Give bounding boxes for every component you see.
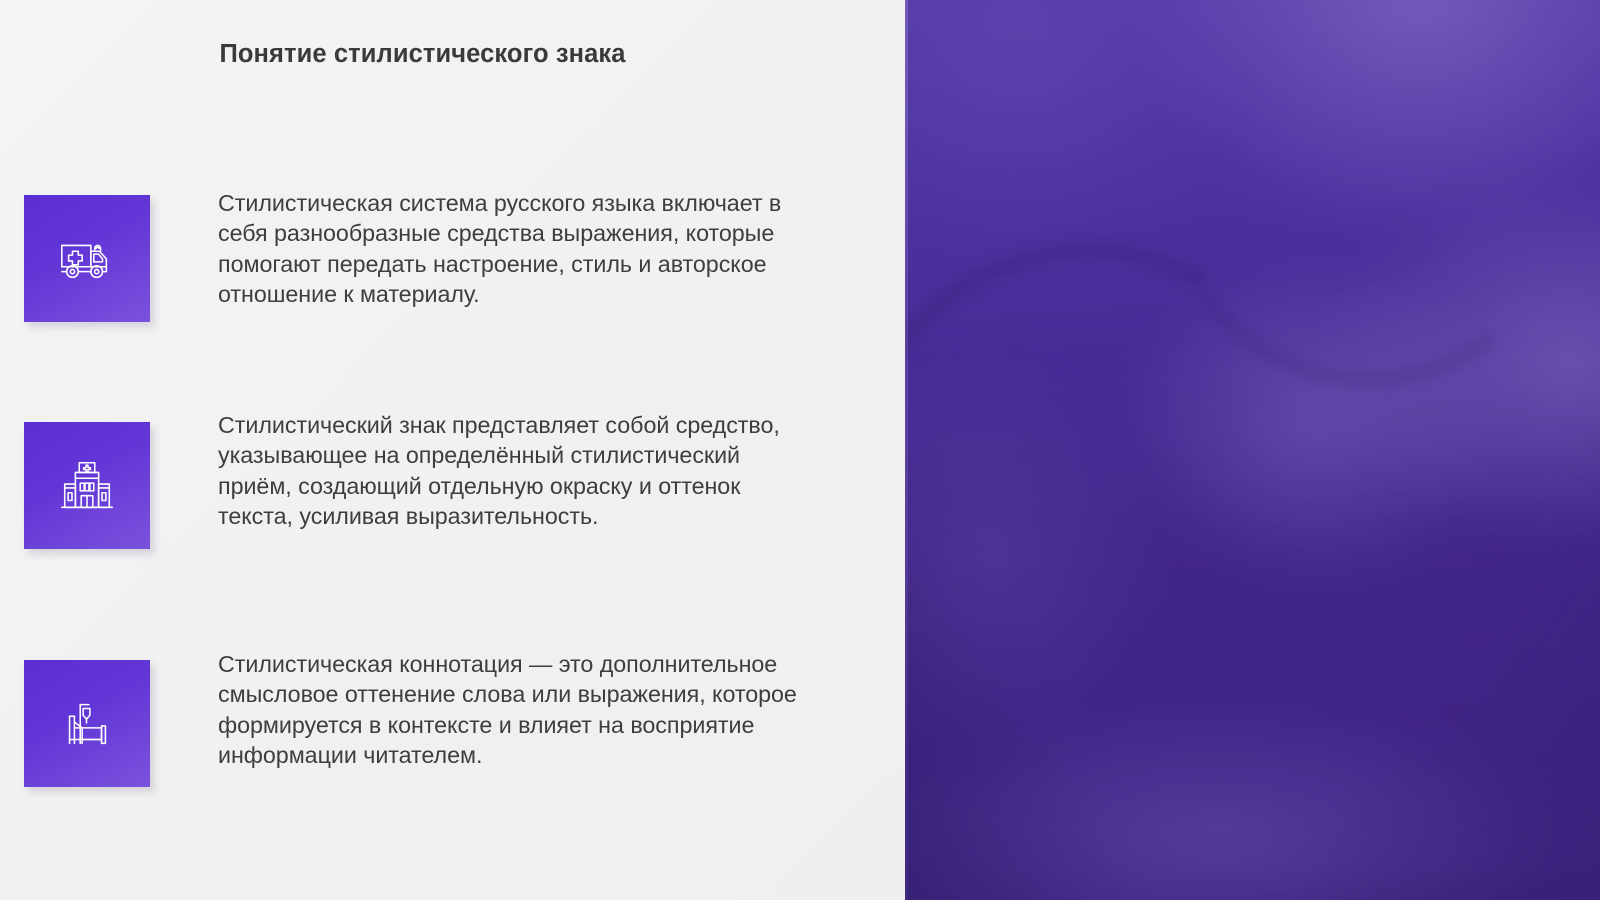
background-photo	[905, 0, 1600, 900]
photo-purple-wash	[905, 0, 1600, 900]
content-pane: Понятие стилистического знака	[0, 0, 905, 900]
list-item-text: Стилистическая система русского языка вк…	[150, 172, 905, 310]
icon-tile-3	[24, 660, 150, 787]
icon-tile-1	[24, 195, 150, 322]
photo-pane	[905, 0, 1600, 900]
slide-root: Понятие стилистического знака	[0, 0, 1600, 900]
list-item-text: Стилистическая коннотация — это дополнит…	[150, 638, 905, 771]
list-item-text: Стилистический знак представляет собой с…	[150, 404, 905, 532]
icon-tile-wrap	[0, 404, 150, 549]
bullet-list: Стилистическая система русского языка вк…	[0, 172, 905, 838]
ambulance-icon	[56, 228, 118, 290]
hospital-bed-iv-icon	[56, 693, 118, 755]
icon-tile-wrap	[0, 172, 150, 322]
icon-tile-2	[24, 422, 150, 549]
hospital-building-icon	[56, 455, 118, 517]
list-item: Стилистическая система русского языка вк…	[0, 172, 905, 404]
list-item: Стилистический знак представляет собой с…	[0, 404, 905, 638]
photo-left-edge	[905, 0, 908, 900]
icon-tile-wrap	[0, 638, 150, 787]
page-title: Понятие стилистического знака	[0, 40, 905, 69]
list-item: Стилистическая коннотация — это дополнит…	[0, 638, 905, 838]
